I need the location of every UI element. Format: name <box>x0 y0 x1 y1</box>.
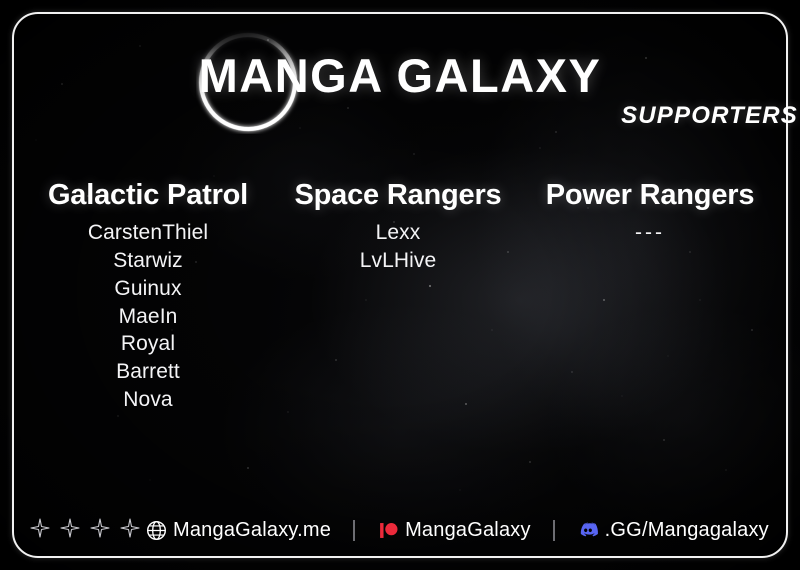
header: MANGA GALAXY SUPPORTERS <box>0 18 800 148</box>
member-name: MaeIn <box>22 303 274 331</box>
link-website[interactable]: MangaGalaxy.me <box>145 519 331 542</box>
brand-subtitle: SUPPORTERS <box>0 104 800 128</box>
tier-title: Power Rangers <box>522 180 778 210</box>
sparkle-decorations <box>30 518 140 543</box>
sparkle-icon <box>90 518 110 543</box>
member-name: CarstenThiel <box>22 219 274 247</box>
patreon-icon <box>377 519 399 541</box>
tier-member-list: --- <box>522 219 778 247</box>
member-name: Guinux <box>22 275 274 303</box>
sparkle-icon <box>120 518 140 543</box>
discord-icon <box>577 519 599 541</box>
tier-title: Galactic Patrol <box>22 180 274 210</box>
empty-tier-placeholder: --- <box>522 219 778 247</box>
link-discord[interactable]: .GG/Mangagalaxy <box>577 519 769 542</box>
tier-member-list: Lexx LvLHive <box>274 219 522 274</box>
member-name: LvLHive <box>274 247 522 275</box>
footer: MangaGalaxy.me MangaGalaxy <box>0 514 800 546</box>
member-name: Nova <box>22 386 274 414</box>
tier-member-list: CarstenThiel Starwiz Guinux MaeIn Royal … <box>22 219 274 413</box>
link-patreon-label: MangaGalaxy <box>405 519 531 542</box>
member-name: Royal <box>22 330 274 358</box>
member-name: Barrett <box>22 358 274 386</box>
tier-title: Space Rangers <box>274 180 522 210</box>
link-website-label: MangaGalaxy.me <box>173 519 331 542</box>
wordmark: MANGA GALAXY SUPPORTERS <box>0 52 800 128</box>
sparkle-icon <box>30 518 50 543</box>
brand-title: MANGA GALAXY <box>199 52 602 99</box>
tier-column-galactic-patrol: Galactic Patrol CarstenThiel Starwiz Gui… <box>22 180 274 413</box>
footer-links: MangaGalaxy.me MangaGalaxy <box>145 519 769 542</box>
supporters-poster: MANGA GALAXY SUPPORTERS Galactic Patrol … <box>0 0 800 570</box>
link-patreon[interactable]: MangaGalaxy <box>377 519 531 542</box>
tier-column-space-rangers: Space Rangers Lexx LvLHive <box>274 180 522 275</box>
member-name: Lexx <box>274 219 522 247</box>
footer-divider <box>553 520 555 541</box>
tier-column-power-rangers: Power Rangers --- <box>522 180 778 247</box>
tier-columns: Galactic Patrol CarstenThiel Starwiz Gui… <box>22 180 778 413</box>
footer-divider <box>353 520 355 541</box>
globe-icon <box>145 519 167 541</box>
link-discord-label: .GG/Mangagalaxy <box>605 519 769 542</box>
member-name: Starwiz <box>22 247 274 275</box>
sparkle-icon <box>60 518 80 543</box>
